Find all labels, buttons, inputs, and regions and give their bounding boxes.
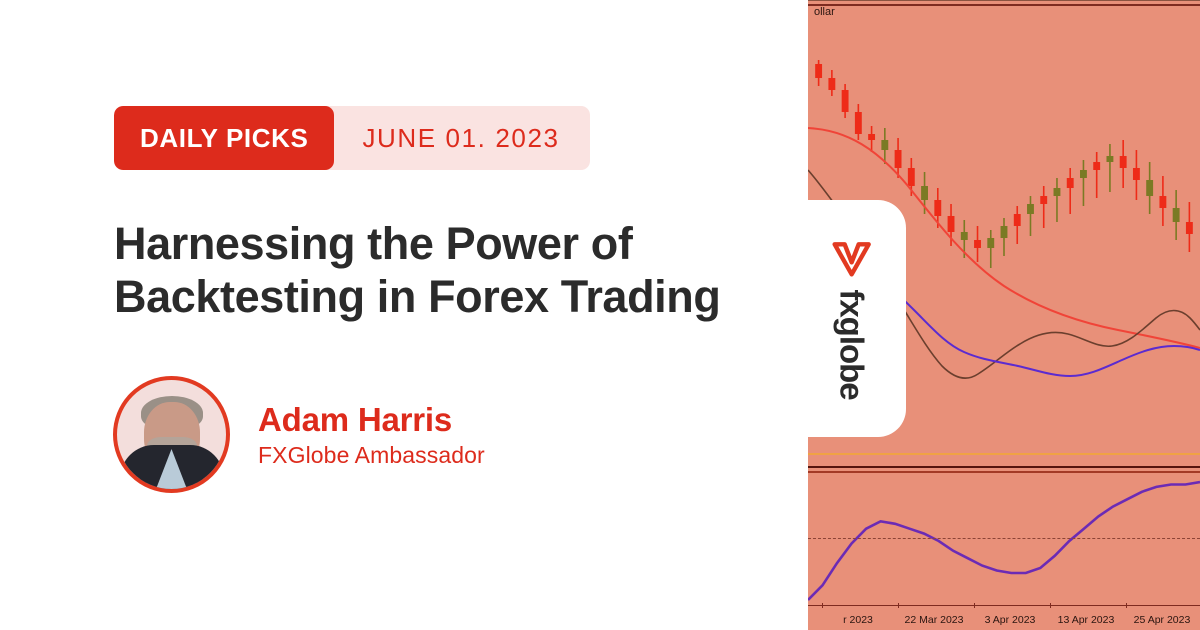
candle-body xyxy=(1014,214,1021,226)
candle-body xyxy=(1027,204,1034,214)
candle-body xyxy=(908,168,915,186)
candle-body xyxy=(1001,226,1008,238)
candle-body xyxy=(1080,170,1087,178)
candle-body xyxy=(1067,178,1074,188)
candle-body xyxy=(1186,222,1193,234)
panel-divider-orange xyxy=(808,453,1200,455)
fxglobe-logo-card[interactable]: fxglobe xyxy=(808,200,906,437)
candle-body xyxy=(1159,196,1166,208)
fxglobe-mark-icon xyxy=(832,238,872,280)
candle-body xyxy=(815,64,822,78)
x-axis-tick-label: 3 Apr 2023 xyxy=(985,614,1036,626)
trading-chart: ollar r 202322 Mar 20233 Apr 202313 Apr … xyxy=(808,0,1200,630)
x-axis-tick-label: 25 Apr 2023 xyxy=(1134,614,1191,626)
avatar xyxy=(113,376,230,493)
badge-date-label: JUNE 01. 2023 xyxy=(334,106,589,170)
candle-body xyxy=(1040,196,1047,204)
content-pane: DAILY PICKS JUNE 01. 2023 Harnessing the… xyxy=(0,0,808,630)
fxglobe-logo: fxglobe xyxy=(832,238,872,399)
x-axis-tick-label: 13 Apr 2023 xyxy=(1058,614,1115,626)
candle-body xyxy=(934,200,941,216)
x-axis-labels: r 202322 Mar 20233 Apr 202313 Apr 202325… xyxy=(808,606,1200,628)
candle-body xyxy=(828,78,835,90)
x-axis-tick-label: r 2023 xyxy=(843,614,873,626)
candle-body xyxy=(1173,208,1180,222)
author-block: Adam Harris FXGlobe Ambassador xyxy=(113,376,485,493)
candle-body xyxy=(1106,156,1113,162)
badge-tag-label: DAILY PICKS xyxy=(114,106,334,170)
x-axis-tick xyxy=(822,603,823,608)
candle-body xyxy=(1093,162,1100,170)
author-role: FXGlobe Ambassador xyxy=(258,442,485,469)
oscillator-line xyxy=(808,482,1200,600)
panel-divider-dark-2 xyxy=(808,471,1200,473)
candle-body xyxy=(881,140,888,150)
daily-picks-badge: DAILY PICKS JUNE 01. 2023 xyxy=(114,106,590,170)
x-axis-tick xyxy=(1050,603,1051,608)
x-axis-tick-label: 22 Mar 2023 xyxy=(905,614,964,626)
candle-body xyxy=(948,216,955,232)
candle-body xyxy=(842,90,849,112)
x-axis-tick xyxy=(1126,603,1127,608)
fxglobe-wordmark: fxglobe xyxy=(833,289,871,399)
oscillator-reference-level xyxy=(808,538,1200,539)
x-axis-tick xyxy=(974,603,975,608)
candle-body xyxy=(868,134,875,140)
panel-divider-dark-1 xyxy=(808,466,1200,468)
author-text: Adam Harris FXGlobe Ambassador xyxy=(258,401,485,469)
candle-body xyxy=(961,232,968,240)
page-title: Harnessing the Power of Backtesting in F… xyxy=(114,218,754,323)
x-axis-tick xyxy=(898,603,899,608)
candle-body xyxy=(921,186,928,200)
candle-body xyxy=(974,240,981,248)
candle-body xyxy=(987,238,994,248)
candle-body xyxy=(1146,180,1153,196)
candle-body xyxy=(1120,156,1127,168)
candle-body xyxy=(1133,168,1140,180)
candle-body xyxy=(1054,188,1061,196)
candle-body xyxy=(895,150,902,168)
author-name: Adam Harris xyxy=(258,401,485,439)
candle-body xyxy=(855,112,862,134)
